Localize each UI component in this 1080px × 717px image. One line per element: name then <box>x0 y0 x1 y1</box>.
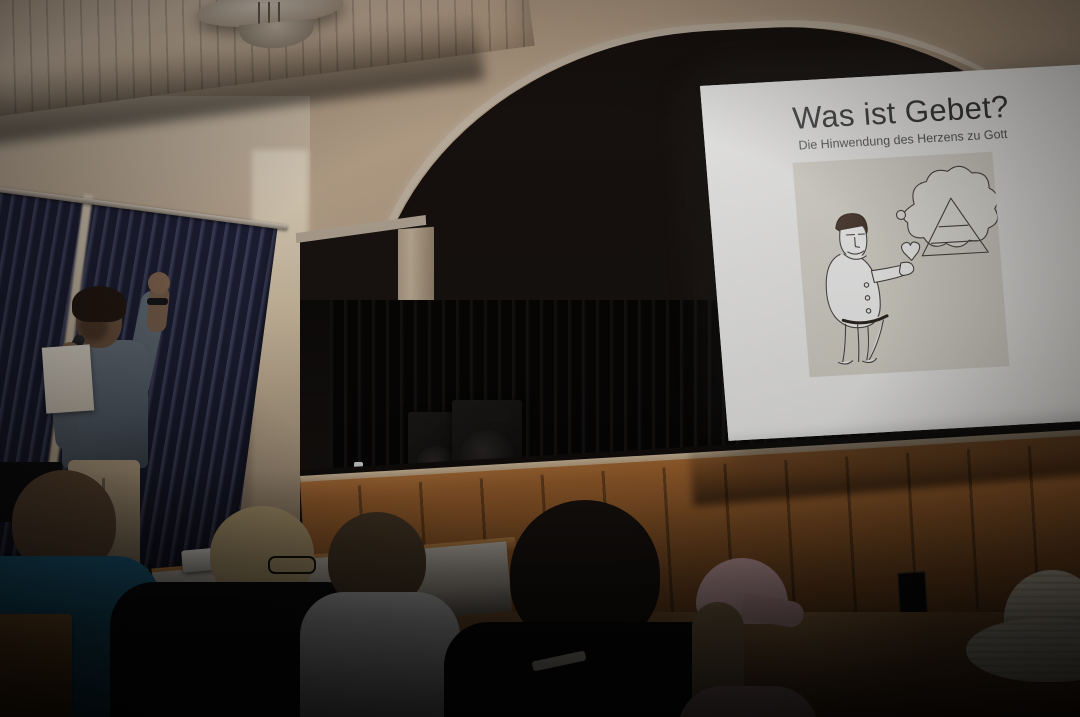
photo-scene: Was ist Gebet? Die Hinwendung des Herzen… <box>0 0 1080 717</box>
pendant-disc-lamp <box>196 0 344 50</box>
lamp-cone <box>239 19 315 51</box>
speaker-tweeter-horn <box>465 408 509 422</box>
wooden-chair <box>0 614 72 717</box>
projection-screen: Was ist Gebet? Die Hinwendung des Herzen… <box>700 64 1080 441</box>
raised-fist <box>148 272 170 294</box>
wristband <box>147 298 168 305</box>
paper-sheet <box>42 344 94 413</box>
projected-slide: Was ist Gebet? Die Hinwendung des Herzen… <box>700 64 1080 441</box>
shoulders <box>300 592 460 717</box>
glasses-icon <box>268 556 316 574</box>
speaker-hair <box>72 286 126 322</box>
slide-illustration <box>792 152 1009 377</box>
